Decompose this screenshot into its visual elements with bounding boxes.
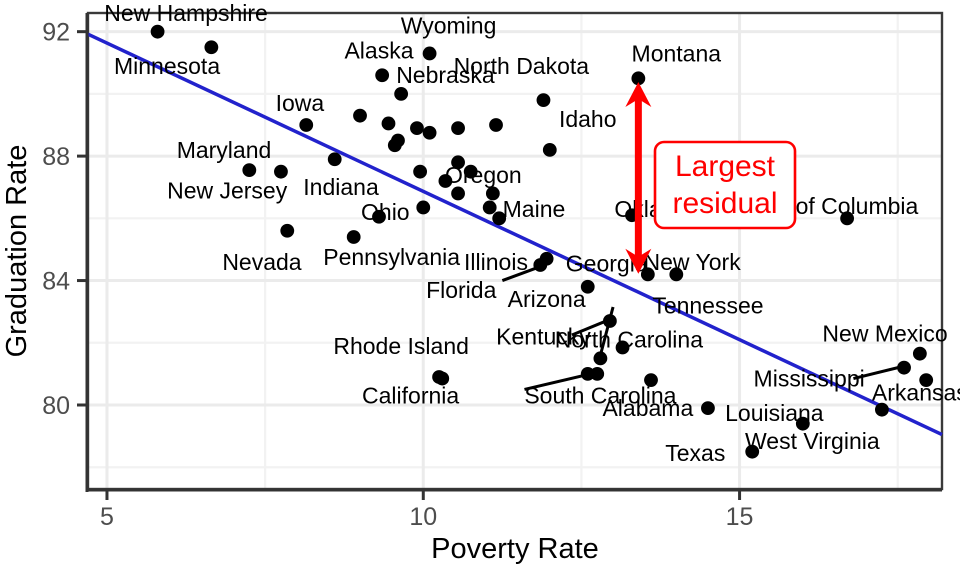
data-point [451,187,465,201]
data-point [913,347,927,361]
point-label: Oregon [445,162,522,188]
point-label: New Jersey [167,177,288,203]
data-point [413,165,427,179]
data-point [416,201,430,215]
point-label: Arkansas [872,380,960,406]
data-point [533,258,547,272]
data-point [897,361,911,375]
point-label: Indiana [303,174,379,200]
y-tick-label: 88 [42,143,70,171]
data-point [423,47,437,61]
point-label: North Carolina [555,327,703,353]
annotation-line-1: Largest [675,150,776,183]
data-point [328,152,342,166]
point-label: Maine [503,196,566,222]
data-point [394,87,408,101]
data-point [543,143,557,157]
point-label: Texas [665,440,725,466]
point-label: North Dakota [454,53,590,79]
data-point [347,230,361,244]
point-label: Rhode Island [333,333,469,359]
point-label: Iowa [276,90,325,116]
point-label: Wyoming [401,12,497,38]
point-label: Arizona [508,286,586,312]
data-point [375,68,389,82]
point-label: New Mexico [822,320,947,346]
point-label: New Hampshire [104,0,268,26]
x-axis-title: Poverty Rate [431,533,599,565]
data-point [410,121,424,135]
point-label: California [362,383,459,409]
point-label: Tennessee [652,292,763,318]
point-label: New York [644,249,742,275]
point-label: Pennsylvania [323,244,460,270]
point-label: West Virginia [745,428,880,454]
data-point [242,163,256,177]
plot-canvas: New HampshireMinnesotaAlaskaWyomingNebra… [0,0,960,576]
point-label: Ohio [361,199,410,225]
data-point [489,118,503,132]
data-point [701,401,715,415]
data-point [353,109,367,123]
x-tick-label: 5 [100,503,114,531]
data-point [581,367,595,381]
data-point [423,126,437,140]
point-label: Minnesota [114,53,220,79]
point-label: Mississippi [754,366,865,392]
point-label: Florida [426,277,497,303]
data-point [537,93,551,107]
annotation-line-2: residual [672,187,777,220]
point-label: Illinois [464,249,528,275]
data-point [486,187,500,201]
point-label: Idaho [559,106,617,132]
x-tick-label: 10 [409,503,437,531]
data-point [382,117,396,131]
scatter-plot-figure: New HampshireMinnesotaAlaskaWyomingNebra… [0,0,960,576]
data-point [451,121,465,135]
y-tick-label: 84 [42,268,70,296]
y-tick-label: 80 [42,392,70,420]
data-point [299,118,313,132]
x-tick-label: 15 [726,503,754,531]
y-tick-label: 92 [42,19,70,47]
data-point [483,201,497,215]
data-point [280,224,294,238]
data-point [594,351,608,365]
point-label: Louisiana [725,400,824,426]
y-axis-title: Graduation Rate [1,145,33,358]
data-point [151,25,165,39]
point-label: Maryland [177,137,272,163]
point-label: Montana [632,40,722,66]
data-point [391,134,405,148]
point-label: Alaska [344,37,413,63]
point-label: Alabama [602,395,693,421]
point-label: Nevada [222,249,301,275]
